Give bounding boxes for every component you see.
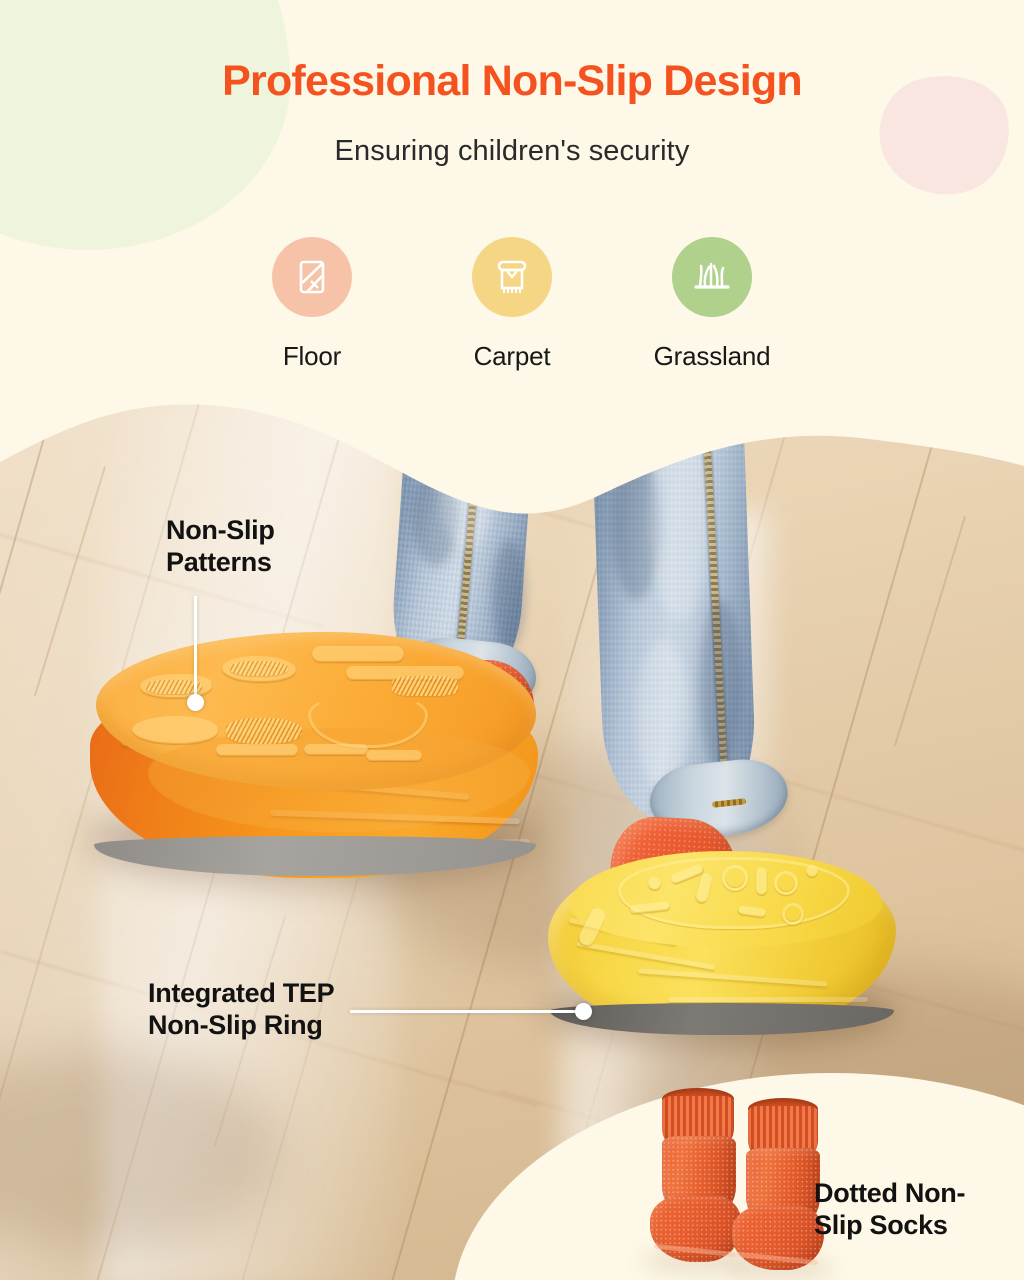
grass-icon: [689, 254, 735, 300]
callout-line-2: Patterns: [166, 547, 396, 579]
leader-dot-tep-ring: [575, 1003, 592, 1020]
floor-icon-badge: [272, 237, 352, 317]
surface-compatibility-row: Floor Carpet: [0, 237, 1024, 372]
header-section: Professional Non-Slip Design Ensuring ch…: [0, 0, 1024, 470]
page-title: Professional Non-Slip Design: [0, 57, 1024, 106]
sock-left: [648, 1088, 744, 1274]
surface-item-grassland: Grassland: [654, 237, 770, 372]
orange-stepping-stone: [78, 618, 548, 876]
product-feature-infographic: Professional Non-Slip Design Ensuring ch…: [0, 0, 1024, 1280]
surface-item-floor: Floor: [254, 237, 370, 372]
surface-item-carpet: Carpet: [454, 237, 570, 372]
leader-line-tep-ring: [350, 1010, 582, 1013]
leader-line-patterns: [194, 596, 197, 702]
callout-dotted-non-slip-socks: Dotted Non- Slip Socks: [814, 1178, 1024, 1242]
callout-line-2: Non-Slip Ring: [148, 1010, 438, 1042]
surface-label-carpet: Carpet: [474, 341, 551, 372]
orange-stone-top-surface: [96, 632, 536, 790]
carpet-icon-badge: [472, 237, 552, 317]
surface-label-grassland: Grassland: [654, 341, 771, 372]
yellow-stepping-stone: [540, 845, 905, 1045]
callout-line-1: Integrated TEP: [148, 978, 438, 1010]
decorative-green-blob: [0, 0, 290, 250]
grassland-icon-badge: [672, 237, 752, 317]
callout-line-2: Slip Socks: [814, 1210, 1024, 1242]
floor-tile-icon: [291, 256, 333, 298]
surface-label-floor: Floor: [283, 341, 341, 372]
page-subtitle: Ensuring children's security: [0, 135, 1024, 168]
callout-line-1: Non-Slip: [166, 515, 396, 547]
callout-non-slip-patterns: Non-Slip Patterns: [166, 515, 396, 579]
leader-dot-patterns: [187, 694, 204, 711]
callout-line-1: Dotted Non-: [814, 1178, 1024, 1210]
yellow-stone-top-surface: [570, 851, 882, 947]
carpet-rug-icon: [490, 255, 534, 299]
